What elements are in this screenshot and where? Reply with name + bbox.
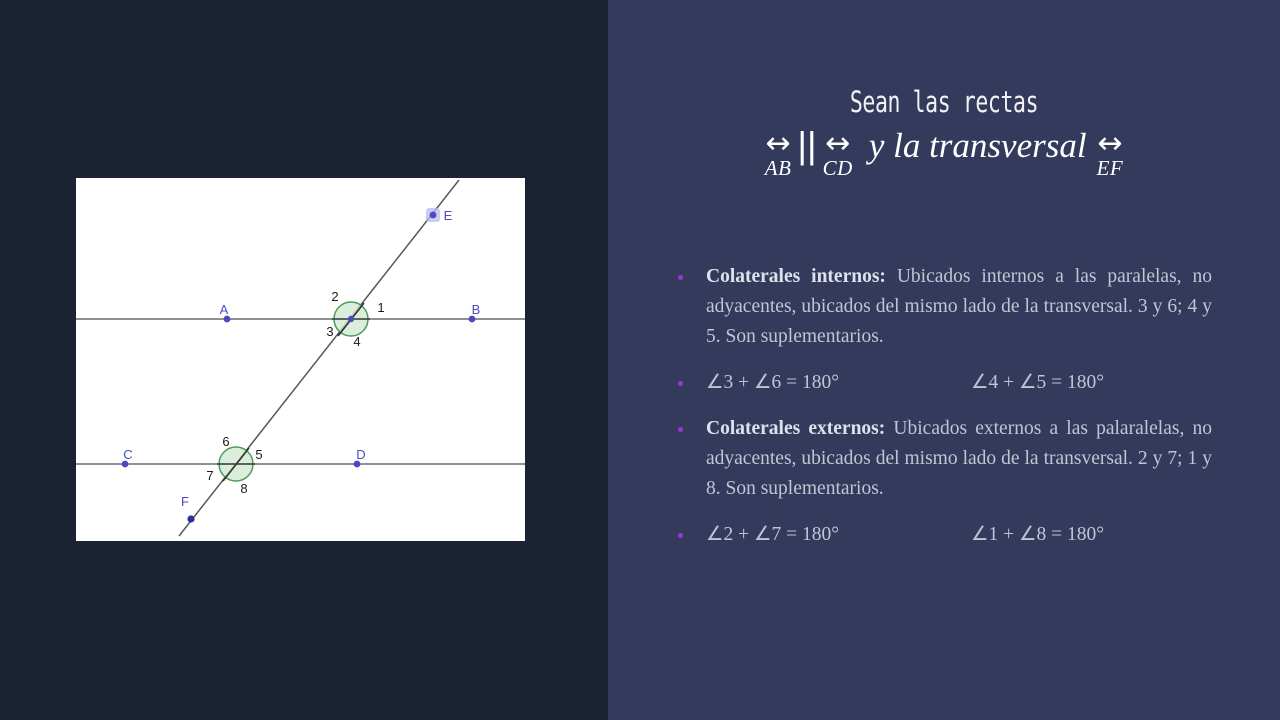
line-ef-transversal	[179, 180, 459, 536]
double-arrow-icon: ↔	[1097, 131, 1122, 157]
equation-right: ∠4 + ∠5 = 180°	[971, 368, 1104, 398]
angle-label-6: 6	[222, 434, 229, 449]
list-item: ∠2 + ∠7 = 180° ∠1 + ∠8 = 180°	[678, 520, 1212, 550]
bullet-list: Colaterales internos: Ubicados internos …	[678, 262, 1212, 566]
bullet-dot-icon	[678, 275, 683, 280]
point-f[interactable]	[187, 515, 194, 522]
heading-block: Sean las rectas ↔ AB || ↔ CD y la transv…	[608, 0, 1280, 179]
bullet-dot-icon	[678, 533, 683, 538]
point-label-a: A	[220, 302, 229, 317]
slide-root: A B C D E F 1 2 3 4 5 6 7 8 Sean las rec…	[0, 0, 1280, 720]
ray-cd-label: CD	[823, 158, 853, 179]
page-title: Sean las rectas	[695, 88, 1192, 117]
bullet-dot-icon	[678, 381, 683, 386]
formula-line: ↔ AB || ↔ CD y la transversal ↔ EF	[608, 131, 1280, 179]
ray-ef: ↔ EF	[1097, 131, 1124, 179]
equation-left: ∠2 + ∠7 = 180°	[706, 520, 971, 550]
angle-label-7: 7	[206, 468, 213, 483]
angle-label-4: 4	[353, 334, 360, 349]
ray-cd: ↔ CD	[823, 131, 853, 179]
point-intersection-top[interactable]	[348, 316, 354, 322]
angle-label-1: 1	[377, 300, 384, 315]
double-arrow-icon: ↔	[825, 131, 850, 157]
angle-label-8: 8	[240, 481, 247, 496]
equation-right: ∠1 + ∠8 = 180°	[971, 520, 1104, 550]
list-item: Colaterales externos: Ubicados externos …	[678, 414, 1212, 504]
equation-row-internos: ∠3 + ∠6 = 180° ∠4 + ∠5 = 180°	[706, 368, 1212, 398]
parallel-symbol: ||	[797, 127, 816, 164]
bullet-dot-icon	[678, 427, 683, 432]
angle-label-5: 5	[255, 447, 262, 462]
bullet-paragraph-externos: Colaterales externos: Ubicados externos …	[706, 414, 1212, 504]
point-label-f: F	[181, 494, 189, 509]
left-panel: A B C D E F 1 2 3 4 5 6 7 8	[0, 0, 608, 720]
equation-left: ∠3 + ∠6 = 180°	[706, 368, 971, 398]
point-label-d: D	[356, 447, 365, 462]
ray-ab: ↔ AB	[765, 131, 792, 179]
point-e[interactable]	[430, 212, 437, 219]
list-item: ∠3 + ∠6 = 180° ∠4 + ∠5 = 180°	[678, 368, 1212, 398]
bullet-bold-label: Colaterales internos:	[706, 266, 886, 287]
geometry-svg[interactable]: A B C D E F 1 2 3 4 5 6 7 8	[76, 178, 525, 541]
double-arrow-icon: ↔	[766, 131, 791, 157]
geometry-figure[interactable]: A B C D E F 1 2 3 4 5 6 7 8	[76, 178, 525, 541]
ray-ab-label: AB	[765, 158, 792, 179]
heading-phrase: y la transversal	[869, 128, 1087, 163]
list-item: Colaterales internos: Ubicados internos …	[678, 262, 1212, 352]
angle-label-3: 3	[326, 324, 333, 339]
point-label-e: E	[444, 208, 453, 223]
point-label-b: B	[472, 302, 481, 317]
ray-ef-label: EF	[1097, 158, 1124, 179]
bullet-paragraph-internos: Colaterales internos: Ubicados internos …	[706, 262, 1212, 352]
angle-label-2: 2	[331, 289, 338, 304]
equation-row-externos: ∠2 + ∠7 = 180° ∠1 + ∠8 = 180°	[706, 520, 1212, 550]
point-label-c: C	[123, 447, 132, 462]
bullet-bold-label: Colaterales externos:	[706, 418, 885, 439]
